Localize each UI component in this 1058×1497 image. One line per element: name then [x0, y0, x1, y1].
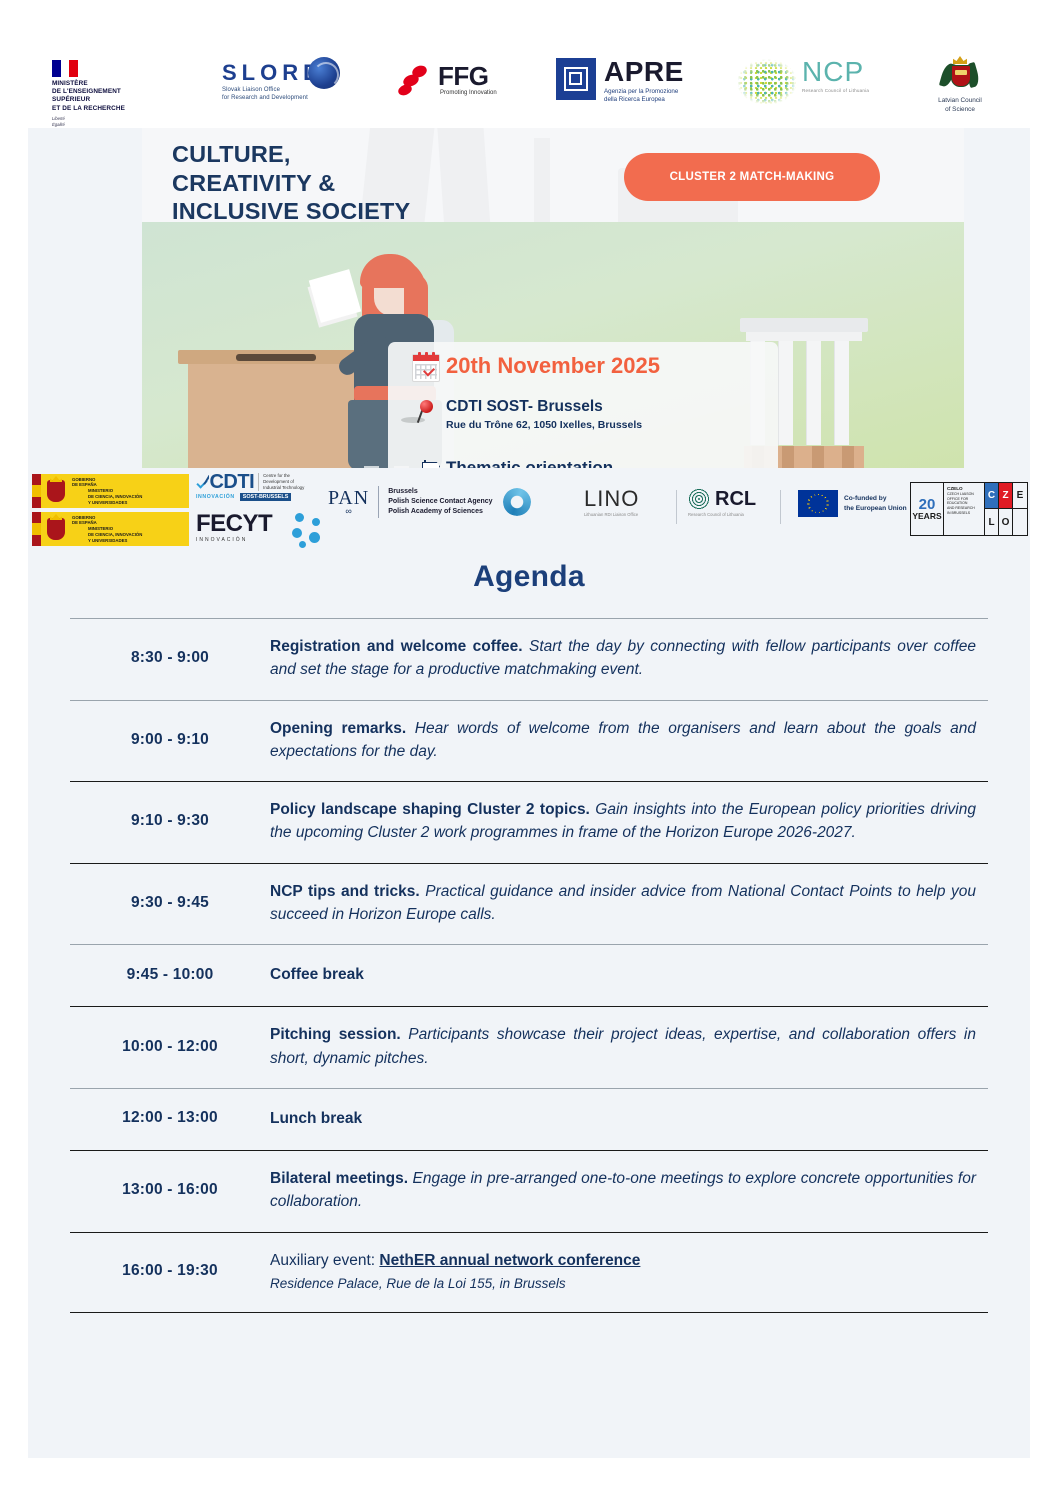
- czelo-20-years: 20 YEARS: [911, 483, 944, 535]
- agenda-row: 9:30 - 9:45 NCP tips and tricks. Practic…: [70, 864, 988, 945]
- logo-ffg: FFG Promoting Innovation: [398, 64, 518, 96]
- agenda-description: Pitching session. Participants showcase …: [270, 1023, 988, 1070]
- top-partner-logo-strip: MINISTÈRE DE L'ENSEIGNEMENT SUPÉRIEUR ET…: [0, 0, 1058, 128]
- agenda-row: 10:00 - 12:00 Pitching session. Particip…: [70, 1007, 988, 1088]
- event-info-card: 20th November 2025 CDTI SOST- Brussels R…: [388, 342, 778, 468]
- czelo-d5: IN BRUSSELS: [947, 511, 981, 516]
- logo-french-ministry: MINISTÈRE DE L'ENSEIGNEMENT SUPÉRIEUR ET…: [52, 60, 182, 133]
- agenda-description: Coffee break: [270, 963, 988, 986]
- pan-l3: Polish Academy of Sciences: [388, 507, 492, 517]
- czelo-cell-l: L: [985, 509, 999, 535]
- pan-wordmark: PAN: [328, 488, 369, 508]
- logo-cdti: CDTI Centre for the Development of Indus…: [196, 472, 316, 501]
- globe-icon: [308, 57, 340, 89]
- lino-wordmark: LINO: [584, 488, 670, 510]
- lino-sub: Lithuanian RDI Liaison Office: [584, 512, 670, 517]
- czelo-cell-empty: [1013, 509, 1027, 535]
- cdti-check-icon: [196, 475, 209, 490]
- ffg-tagline: Promoting Innovation: [440, 90, 518, 96]
- agenda-table: 8:30 - 9:00 Registration and welcome cof…: [70, 618, 988, 1313]
- agenda-time: 9:00 - 9:10: [70, 731, 270, 749]
- ncp-sub: Research Council of Lithuania: [802, 88, 898, 93]
- divider: [378, 486, 379, 518]
- agenda-description: Opening remarks. Hear words of welcome f…: [270, 717, 988, 764]
- agenda-time: 12:00 - 13:00: [70, 1109, 270, 1127]
- cluster2-matchmaking-badge[interactable]: CLUSTER 2 MATCH-MAKING: [624, 153, 880, 201]
- lithuania-map-dots-icon: [738, 58, 796, 106]
- ffg-mark-icon: [398, 66, 432, 96]
- cdti-wordmark: CDTI: [209, 472, 254, 492]
- agenda-row: 12:00 - 13:00 Lunch break: [70, 1089, 988, 1150]
- czelo-cell-z: Z: [999, 483, 1013, 509]
- eu-l1: Co-funded by: [844, 494, 907, 504]
- spain-crest-icon: [47, 480, 65, 502]
- czelo-title: CZELO: [947, 486, 981, 491]
- signpost-icon: [406, 458, 446, 468]
- ncp-wordmark: NCP: [802, 58, 898, 86]
- theme-title: Thematic orientation: [446, 458, 613, 468]
- agenda-row: 9:00 - 9:10 Opening remarks. Hear words …: [70, 701, 988, 782]
- row-separator: [70, 1312, 988, 1313]
- agenda-time: 8:30 - 9:00: [70, 649, 270, 667]
- event-theme-row: Thematic orientation WP 2026 - 2027 Clus…: [406, 458, 613, 468]
- es1-r2: DE CIENCIA, INNOVACIÓN: [88, 494, 142, 500]
- agenda-row: 16:00 - 19:30 Auxiliary event: NethER an…: [70, 1233, 988, 1313]
- agenda-title-text: NCP tips and tricks.: [270, 883, 420, 900]
- map-pin-icon: [406, 398, 446, 424]
- czelo-cell-c: C: [985, 483, 999, 509]
- agenda-time: 9:10 - 9:30: [70, 812, 270, 830]
- page-title: Agenda: [28, 560, 1030, 594]
- auxiliary-event-venue: Residence Palace, Rue de la Loi 155, in …: [270, 1274, 976, 1294]
- agenda-row: 13:00 - 16:00 Bilateral meetings. Engage…: [70, 1151, 988, 1232]
- banner-title-line2: CREATIVITY &: [172, 169, 410, 198]
- logo-apre: APRE Agenzia per la Promozione della Ric…: [556, 58, 736, 105]
- es1-r3: Y UNIVERSIDADES: [88, 500, 142, 506]
- agenda-title-text: Pitching session.: [270, 1026, 401, 1043]
- cta-label: CLUSTER 2 MATCH-MAKING: [670, 171, 835, 183]
- agenda-time: 10:00 - 12:00: [70, 1038, 270, 1056]
- logo-latvian-council: Latvian Council of Science: [905, 56, 1015, 115]
- eu-flag-icon: [798, 490, 838, 517]
- fr-ministry-line1: MINISTÈRE: [52, 80, 182, 88]
- logo-pan-brussels: PAN ∞ Brussels Polish Science Contact Ag…: [328, 486, 558, 518]
- ffg-wordmark: FFG: [438, 64, 518, 89]
- apre-sub2: della Ricerca Europea: [604, 96, 736, 104]
- czelo-info: CZELO CZECH LIAISON OFFICE FOR EDUCATION…: [944, 483, 985, 535]
- banner-illustration: 20th November 2025 CDTI SOST- Brussels R…: [142, 222, 964, 468]
- event-address: Rue du Trône 62, 1050 Ixelles, Brussels: [446, 418, 642, 434]
- spain-crest-icon-2: [47, 518, 65, 540]
- bottom-partner-logo-strip: GOBIERNO DE ESPAÑA MINISTERIO DE CIENCIA…: [28, 468, 1030, 558]
- event-location-row: CDTI SOST- Brussels Rue du Trône 62, 105…: [406, 398, 642, 433]
- divider-2: [676, 490, 677, 524]
- banner-header: CULTURE, CREATIVITY & INCLUSIVE SOCIETY …: [142, 128, 964, 222]
- logo-spain-ministry-1: GOBIERNO DE ESPAÑA MINISTERIO DE CIENCIA…: [32, 474, 189, 508]
- spiral-icon: [503, 488, 531, 516]
- czelo-num: 20: [919, 497, 936, 512]
- agenda-description: NCP tips and tricks. Practical guidance …: [270, 880, 988, 927]
- apre-square-icon: [556, 58, 596, 100]
- agenda-row: 8:30 - 9:00 Registration and welcome cof…: [70, 619, 988, 700]
- agenda-title-text: Policy landscape shaping Cluster 2 topic…: [270, 801, 590, 818]
- event-date-row: 20th November 2025: [406, 354, 660, 382]
- event-venue: CDTI SOST- Brussels: [446, 398, 642, 417]
- rcl-wordmark: RCL: [715, 489, 756, 509]
- cdti-sost-badge: SOST-BRUSSELS: [240, 493, 292, 501]
- czelo-letter-grid: C Z E L O: [985, 483, 1027, 535]
- molecule-icon: [292, 513, 326, 549]
- lcs-sub1: Latvian Council: [905, 97, 1015, 106]
- banner-title: CULTURE, CREATIVITY & INCLUSIVE SOCIETY: [172, 140, 410, 222]
- banner-title-line1: CULTURE,: [172, 140, 410, 169]
- french-flag-icon: [52, 60, 78, 77]
- agenda-time: 16:00 - 19:30: [70, 1262, 270, 1280]
- fr-ministry-line4: ET DE LA RECHERCHE: [52, 105, 182, 113]
- cdti-side1: Centre for the Development of: [263, 473, 316, 484]
- lino-text: LINO: [584, 486, 639, 511]
- agenda-time: 13:00 - 16:00: [70, 1181, 270, 1199]
- agenda-title-text: Registration and welcome coffee.: [270, 638, 523, 655]
- czelo-cell-e: E: [1013, 483, 1027, 509]
- logo-czelo: 20 YEARS CZELO CZECH LIAISON OFFICE FOR …: [910, 482, 1028, 536]
- cdti-innovacion: INNOVACIÓN: [196, 494, 235, 500]
- pan-l1: Brussels: [388, 487, 492, 497]
- logo-ncp-lithuania: NCP Research Council of Lithuania: [738, 58, 898, 93]
- czelo-cell-o: O: [999, 509, 1013, 535]
- agenda-time: 9:45 - 10:00: [70, 966, 270, 984]
- lcs-sub2: of Science: [905, 106, 1015, 115]
- es2-r3: Y UNIVERSIDADES: [88, 538, 142, 544]
- fr-ministry-line3: SUPÉRIEUR: [52, 96, 182, 104]
- apre-sub1: Agenzia per la Promozione: [604, 88, 736, 96]
- agenda-description: Lunch break: [270, 1107, 988, 1130]
- agenda-description: Policy landscape shaping Cluster 2 topic…: [270, 798, 988, 845]
- pan-l2: Polish Science Contact Agency: [388, 497, 492, 507]
- slord-sub1: Slovak Liaison Office: [222, 86, 372, 94]
- slord-wordmark: SLORD: [222, 62, 372, 84]
- calendar-icon: [406, 354, 446, 382]
- banner-title-line3: INCLUSIVE SOCIETY: [172, 197, 410, 222]
- cdti-side2: Industrial Technology: [263, 485, 316, 491]
- agenda-row: 9:10 - 9:30 Policy landscape shaping Clu…: [70, 782, 988, 863]
- agenda-time: 9:30 - 9:45: [70, 894, 270, 912]
- agenda-description: Bilateral meetings. Engage in pre-arrang…: [270, 1167, 988, 1214]
- rcl-circle-icon: [688, 488, 710, 510]
- agenda-row: 9:45 - 10:00 Coffee break: [70, 945, 988, 1006]
- logo-lino: LINO Lithuanian RDI Liaison Office: [584, 488, 670, 517]
- auxiliary-event-label: Auxiliary event:: [270, 1252, 379, 1269]
- divider-3: [780, 490, 781, 524]
- logo-fecyt: FECYT INNOVACIÓN: [196, 512, 326, 543]
- slord-sub2: for Research and Development: [222, 94, 372, 102]
- logo-slord: SLORD Slovak Liaison Office for Research…: [222, 62, 372, 103]
- logo-rcl: RCL Research Council of Lithuania: [688, 488, 756, 510]
- apre-wordmark: APRE: [604, 58, 736, 86]
- event-banner: CULTURE, CREATIVITY & INCLUSIVE SOCIETY …: [142, 128, 964, 468]
- eu-l2: the European Union: [844, 504, 907, 514]
- czelo-years: YEARS: [912, 512, 941, 521]
- document-panel: CULTURE, CREATIVITY & INCLUSIVE SOCIETY …: [28, 128, 1030, 1458]
- nether-conference-link[interactable]: NethER annual network conference: [379, 1252, 640, 1269]
- logo-spain-ministry-2: GOBIERNO DE ESPAÑA MINISTERIO DE CIENCIA…: [32, 512, 189, 546]
- agenda-description: Auxiliary event: NethER annual network c…: [270, 1249, 988, 1295]
- latvian-crest-icon: [943, 56, 977, 94]
- es2-r2: DE CIENCIA, INNOVACIÓN: [88, 532, 142, 538]
- agenda-description: Registration and welcome coffee. Start t…: [270, 635, 988, 682]
- logo-eu-cofunded: Co-funded by the European Union: [798, 490, 907, 517]
- rcl-sub: Research Council of Lithuania: [688, 512, 744, 517]
- agenda-title-text: Bilateral meetings.: [270, 1170, 408, 1187]
- event-date: 20th November 2025: [446, 354, 660, 378]
- agenda-title-text: Opening remarks.: [270, 720, 406, 737]
